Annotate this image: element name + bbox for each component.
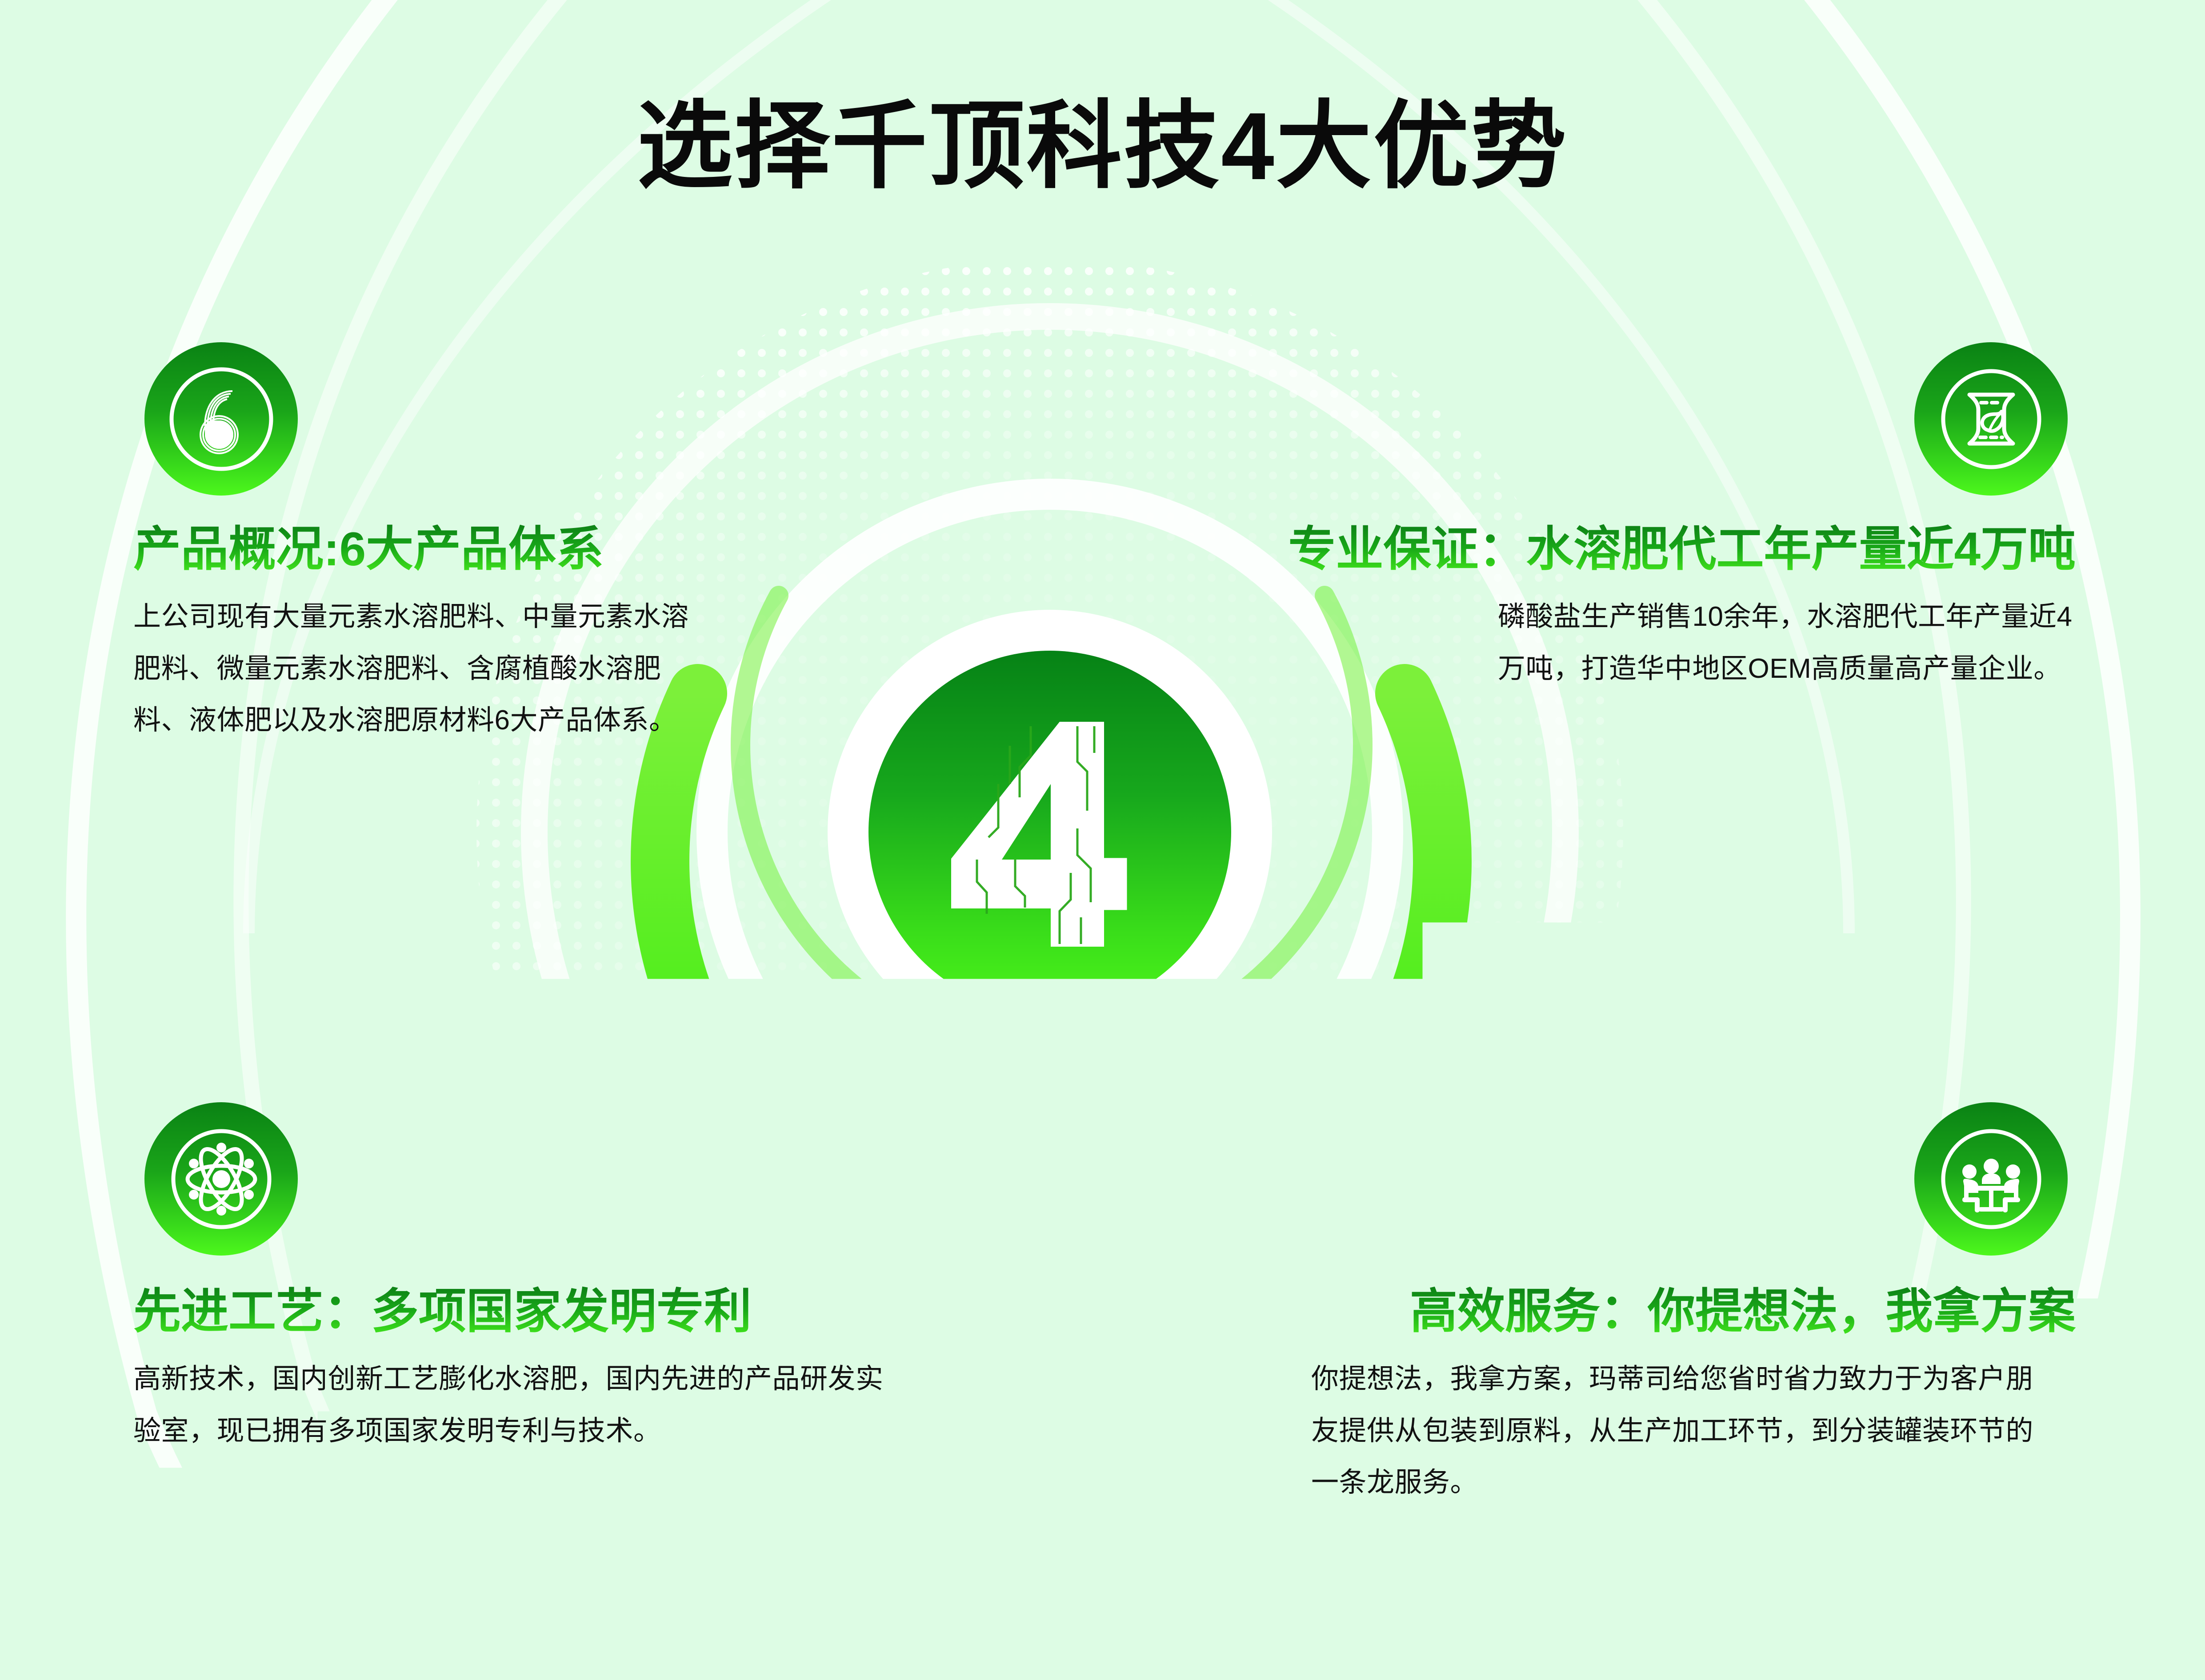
advantage-heading: 先进工艺：多项国家发明专利 <box>133 1282 752 1340</box>
meeting-people-icon <box>1936 1124 2047 1235</box>
number-six-badge-icon <box>144 342 298 496</box>
atom-badge <box>144 1102 298 1256</box>
advantage-body: 高新技术，国内创新工艺膨化水溶肥，国内先进的产品研发实验室，现已拥有多项国家发明… <box>133 1353 889 1457</box>
advantage-body: 你提想法，我拿方案，玛蒂司给您省时省力致力于为客户朋友提供从包装到原料，从生产加… <box>1311 1353 2045 1509</box>
page-title: 选择千顶科技4大优势 <box>0 89 2205 204</box>
hero-green-circle <box>868 651 1231 1013</box>
fertilizer-bag-badge <box>1914 342 2068 496</box>
advantage-heading: 产品概况:6大产品体系 <box>133 520 604 578</box>
fertilizer-bag-icon <box>1936 364 2047 475</box>
advantage-body: 磷酸盐生产销售10余年，水溶肥代工年产量近4万吨，打造华中地区OEM高质量高产量… <box>1498 591 2076 695</box>
center-hero-badge <box>828 610 1272 1054</box>
advantage-body: 上公司现有大量元素水溶肥料、中量元素水溶肥料、微量元素水溶肥料、含腐植酸水溶肥料… <box>133 591 689 747</box>
advantage-heading: 高效服务：你提想法，我拿方案 <box>1410 1282 2076 1340</box>
meeting-people-badge <box>1914 1102 2068 1256</box>
number-six-glyph-icon <box>166 364 277 475</box>
hero-number-four-icon <box>868 651 1231 1013</box>
advantage-heading: 专业保证：水溶肥代工年产量近4万吨 <box>1288 520 2076 578</box>
atom-icon <box>166 1124 277 1235</box>
